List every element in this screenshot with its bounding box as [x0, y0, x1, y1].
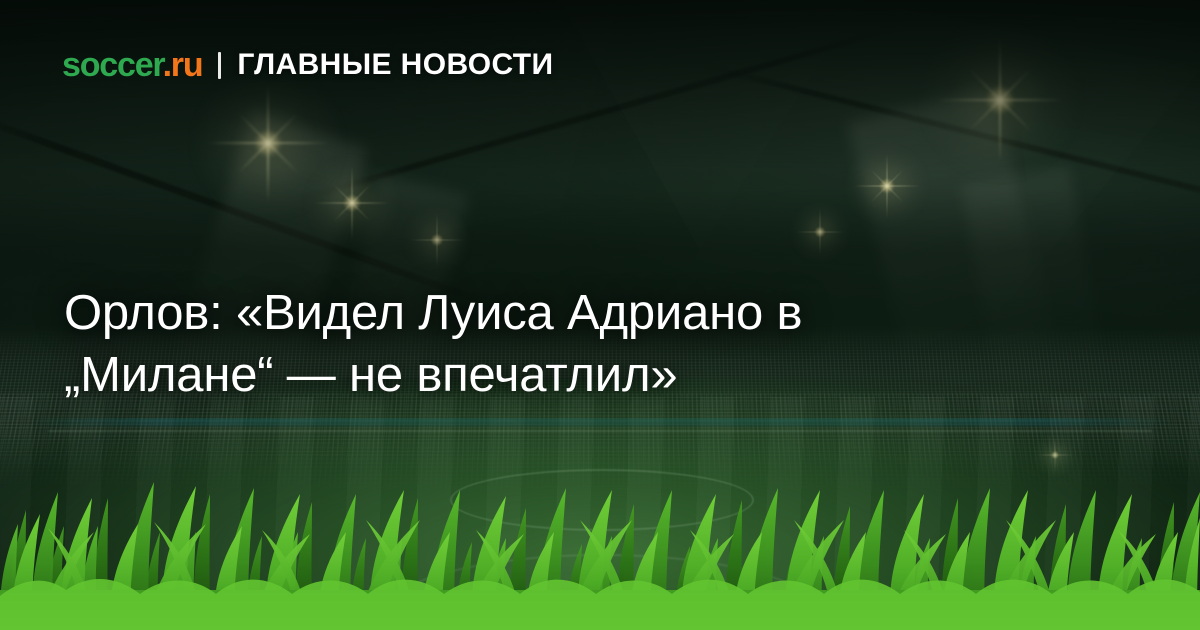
- logo-word: soccer: [62, 46, 163, 84]
- page-title: Орлов: «Видел Луиса Адриано в „Милане“ —…: [64, 282, 1024, 406]
- centre-circle: [450, 469, 754, 531]
- soccer-ru-logo[interactable]: soccer.ru: [62, 48, 202, 82]
- section-kicker: ГЛАВНЫЕ НОВОСТИ: [237, 50, 553, 80]
- foreground-grass: [0, 440, 1200, 630]
- news-cover-card: soccer.ru ГЛАВНЫЕ НОВОСТИ Орлов: «Видел …: [0, 0, 1200, 630]
- logo-tld: .ru: [163, 46, 203, 84]
- penalty-arc: [380, 554, 824, 630]
- vertical-bar-icon: [218, 52, 221, 79]
- brand-header: soccer.ru ГЛАВНЫЕ НОВОСТИ: [62, 48, 554, 82]
